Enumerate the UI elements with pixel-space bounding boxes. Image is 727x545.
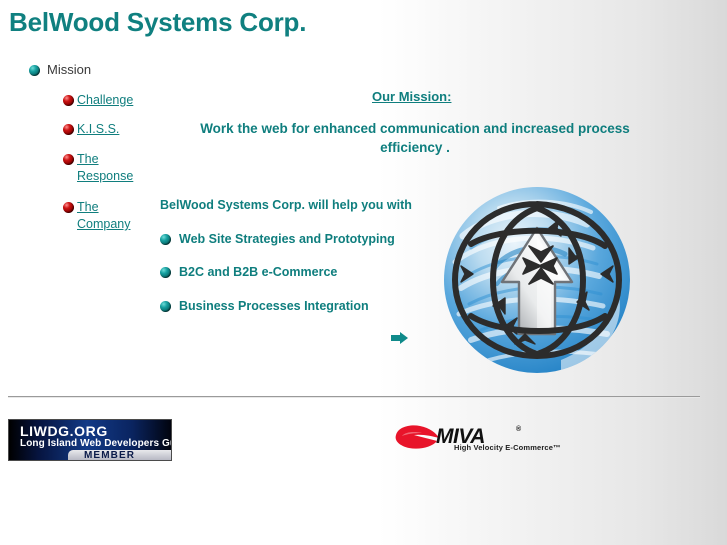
sidebar-item-the-company[interactable]: The Company [63,199,155,233]
service-item-label: B2C and B2B e-Commerce [179,265,337,279]
sidebar-link-label[interactable]: Challenge [77,92,133,109]
service-item: Business Processes Integration [160,299,369,313]
service-item-label: Business Processes Integration [179,299,369,313]
liwdg-member-badge[interactable]: LIWDG.ORG Long Island Web Developers Gui… [8,419,172,461]
page-title: BelWood Systems Corp. [9,7,306,38]
sidebar-item-label: Mission [47,62,91,77]
page-root: BelWood Systems Corp. Mission Challenge … [0,0,727,545]
sidebar-link-label[interactable]: The Response [77,151,155,185]
red-sphere-bullet-icon [63,124,74,135]
svg-text:®: ® [516,425,522,433]
service-item-label: Web Site Strategies and Prototyping [179,232,395,246]
sidebar-item-the-response[interactable]: The Response [63,151,155,185]
teal-sphere-bullet-icon [160,234,171,245]
services-intro: BelWood Systems Corp. will help you with [160,198,412,212]
red-sphere-bullet-icon [63,154,74,165]
mission-statement: Work the web for enhanced communication … [190,119,640,157]
liwdg-subtitle: Long Island Web Developers Guild [20,438,172,449]
blue-globe-with-arrows-icon [441,184,633,376]
miva-logo[interactable]: MIVA ® High Velocity E-Commerce™ [392,422,532,454]
teal-sphere-bullet-icon [29,65,40,76]
service-item: Web Site Strategies and Prototyping [160,232,395,246]
mission-heading: Our Mission: [372,89,451,104]
teal-sphere-bullet-icon [160,301,171,312]
liwdg-title: LIWDG.ORG [20,423,108,439]
teal-sphere-bullet-icon [160,267,171,278]
liwdg-member-bar: MEMBER [68,450,172,461]
footer-divider [8,396,700,398]
miva-tagline: High Velocity E-Commerce™ [454,443,561,452]
red-sphere-bullet-icon [63,95,74,106]
red-sphere-bullet-icon [63,202,74,213]
liwdg-member-label: MEMBER [84,450,135,461]
sidebar-item-kiss[interactable]: K.I.S.S. [63,121,155,138]
service-item: B2C and B2B e-Commerce [160,265,337,279]
sidebar-item-challenge[interactable]: Challenge [63,92,155,109]
sidebar-item-mission: Mission [29,62,91,77]
teal-right-arrow-icon [391,331,409,345]
sidebar-link-label[interactable]: K.I.S.S. [77,121,119,138]
sidebar-link-label[interactable]: The Company [77,199,155,233]
